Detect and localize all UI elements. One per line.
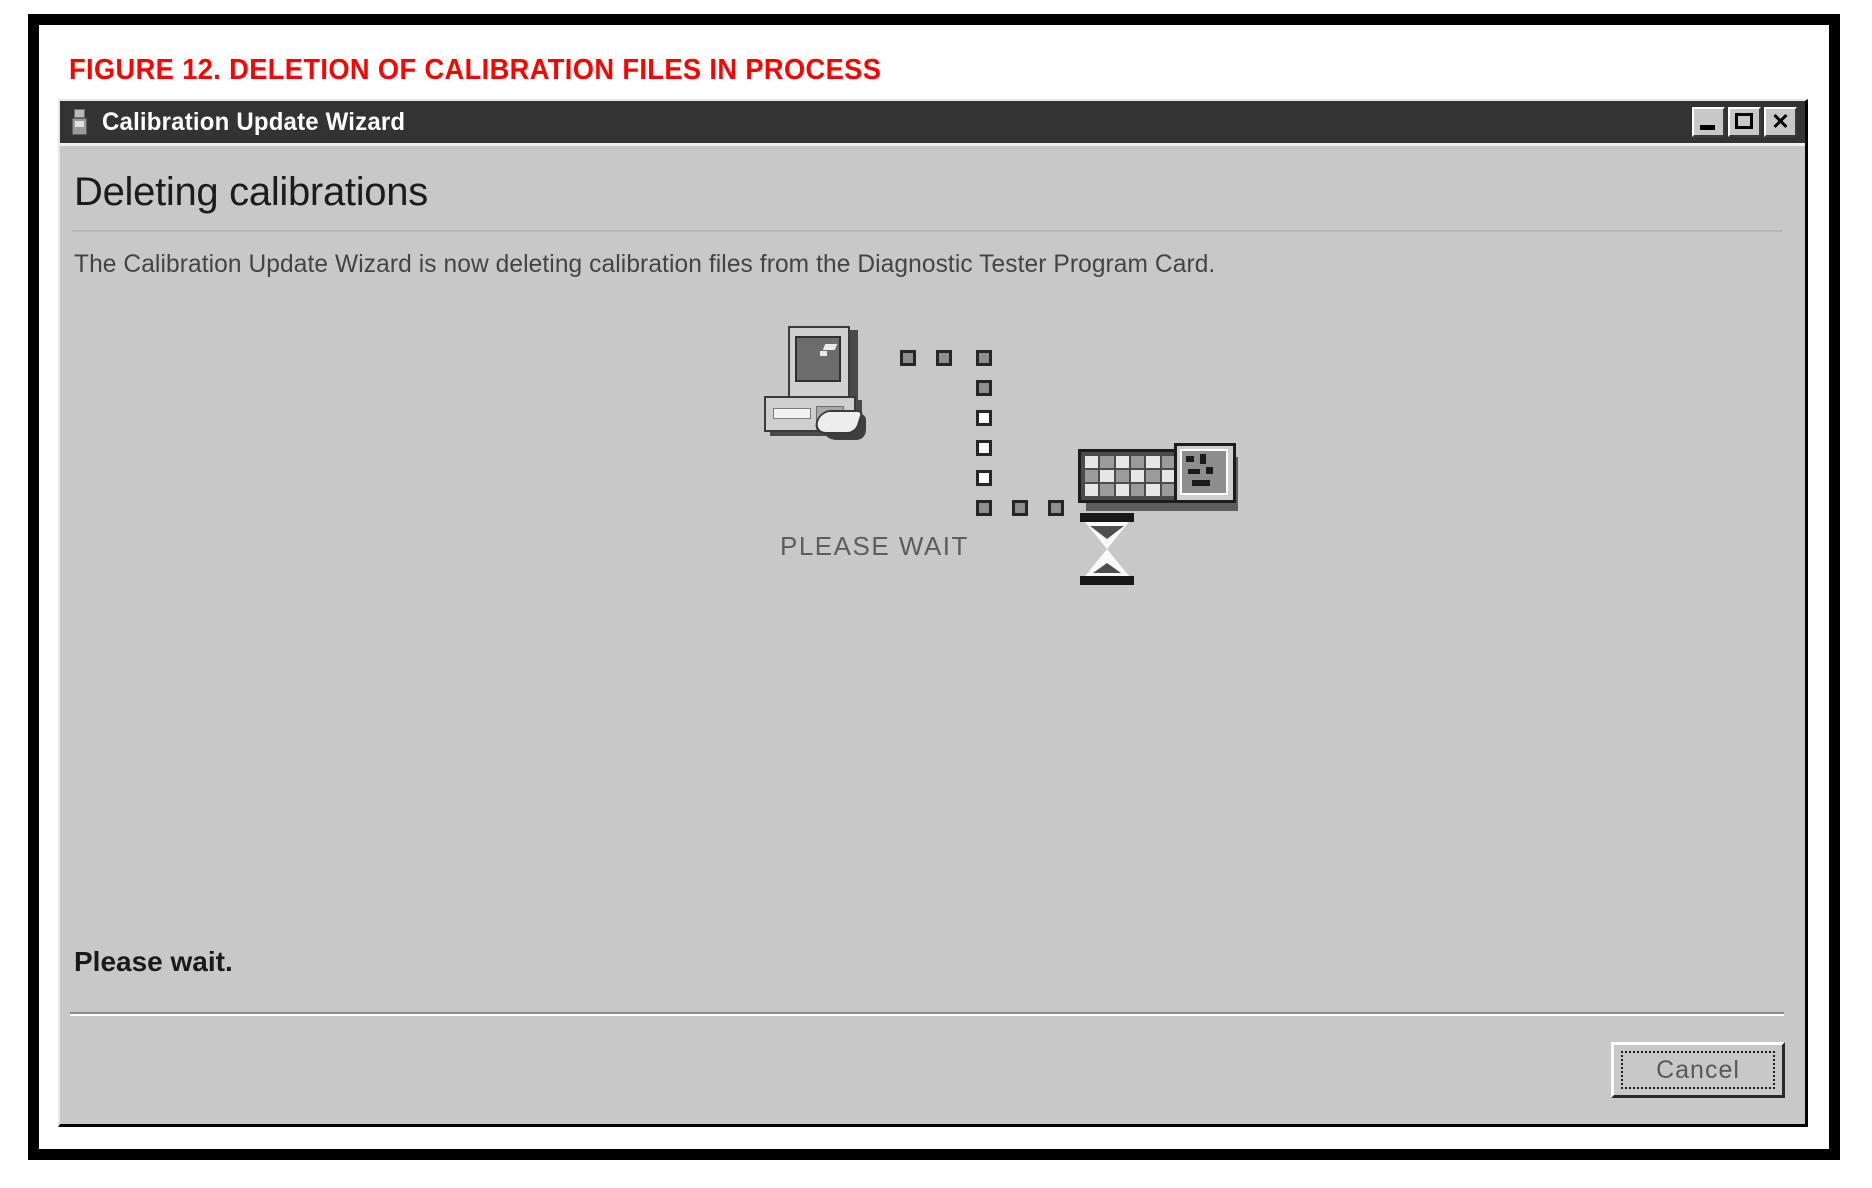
transfer-dot [976,380,992,396]
dialog-title: Calibration Update Wizard [102,108,405,137]
maximize-button[interactable] [1728,107,1761,137]
transfer-dot [936,350,952,366]
dialog-body: Deleting calibrations The Calibration Up… [60,143,1805,1124]
close-button[interactable]: ✕ [1764,107,1797,137]
transfer-dot [976,440,992,456]
transfer-dot [976,350,992,366]
transfer-illustration: PLEASE WAIT [60,316,1805,676]
transfer-dot [1048,500,1064,516]
status-message: Please wait. [74,946,233,978]
transfer-dot [1012,500,1028,516]
close-icon: ✕ [1766,109,1795,135]
transfer-dot [900,350,916,366]
figure-caption: FIGURE 12. DELETION OF CALIBRATION FILES… [69,54,881,87]
minimize-icon [1700,125,1715,130]
dialog-titlebar[interactable]: Calibration Update Wizard ✕ [60,101,1805,143]
please-wait-graphic-label: PLEASE WAIT [780,531,969,562]
heading-divider [72,230,1782,232]
transfer-dot [976,470,992,486]
body-description: The Calibration Update Wizard is now del… [74,250,1215,279]
figure-frame: FIGURE 12. DELETION OF CALIBRATION FILES… [28,14,1840,1160]
cancel-button[interactable]: Cancel [1611,1042,1785,1098]
page-heading: Deleting calibrations [74,170,428,215]
cancel-button-label: Cancel [1656,1056,1740,1085]
focus-outline: Cancel [1621,1051,1775,1089]
transfer-dot [976,500,992,516]
window-controls: ✕ [1692,107,1801,137]
diagnostic-tester-icon [1078,449,1238,511]
desktop-computer-icon [760,326,880,444]
footer-divider [70,1012,1784,1016]
device-icon [70,109,90,135]
hourglass-icon [1080,513,1134,585]
maximize-icon [1735,113,1753,129]
minimize-button[interactable] [1692,107,1725,137]
calibration-update-wizard-dialog: Calibration Update Wizard ✕ Deleting cal… [58,99,1808,1127]
transfer-dot [976,410,992,426]
